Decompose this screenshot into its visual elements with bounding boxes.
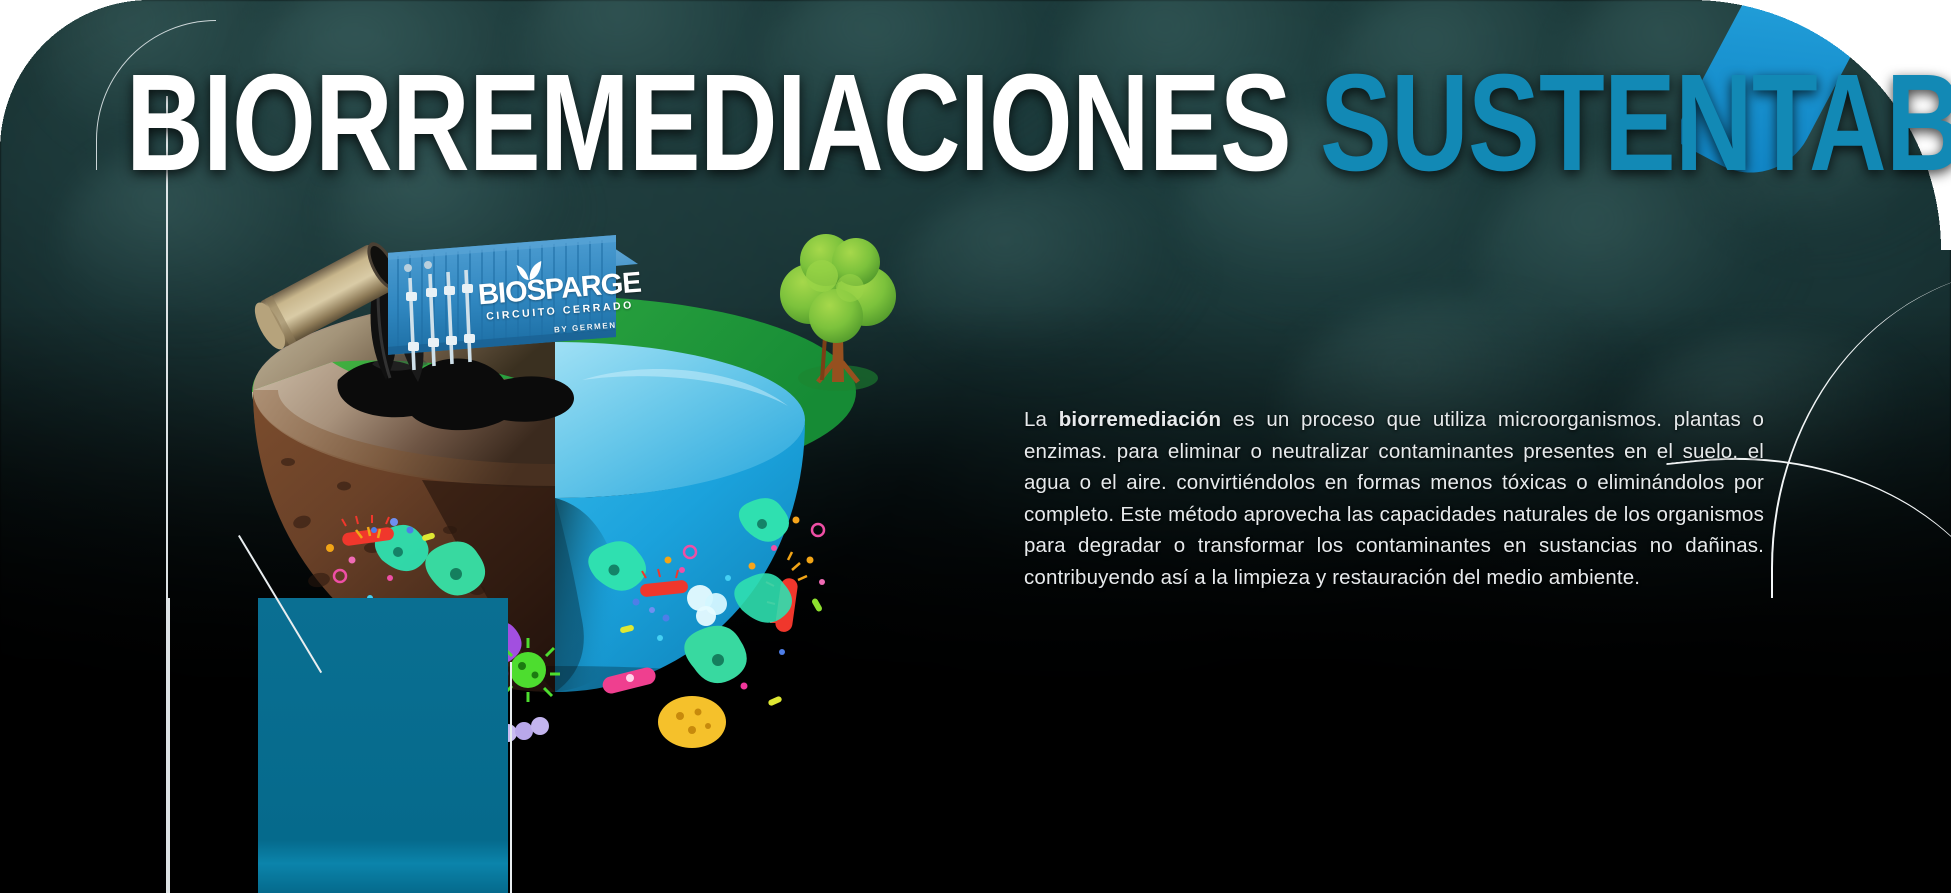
paragraph-rest: es un proceso que utiliza microorganismo… — [1024, 408, 1764, 589]
decor-line-vertical-center — [510, 662, 512, 893]
page-title: BIORREMEDIACIONES SUSTENTABLES — [126, 56, 1951, 191]
poster-canvas: BIOSPARGE CIRCUITO CERRADO BY GERMEN BIO… — [0, 0, 1951, 893]
paragraph-bold-term: biorremediación — [1059, 408, 1222, 431]
page-title-word-2: SUSTENTABLES — [1320, 46, 1951, 200]
paragraph-lead: La — [1024, 408, 1059, 431]
microbe-blob-yellow — [658, 696, 726, 748]
tree-canopy — [780, 234, 896, 343]
body-paragraph: La biorremediación es un proceso que uti… — [1024, 404, 1764, 594]
accent-block-teal — [258, 598, 508, 893]
leaf-icon — [513, 259, 545, 283]
decor-line-vertical-left-lower — [168, 598, 170, 893]
page-title-word-1: BIORREMEDIACIONES — [126, 46, 1291, 200]
